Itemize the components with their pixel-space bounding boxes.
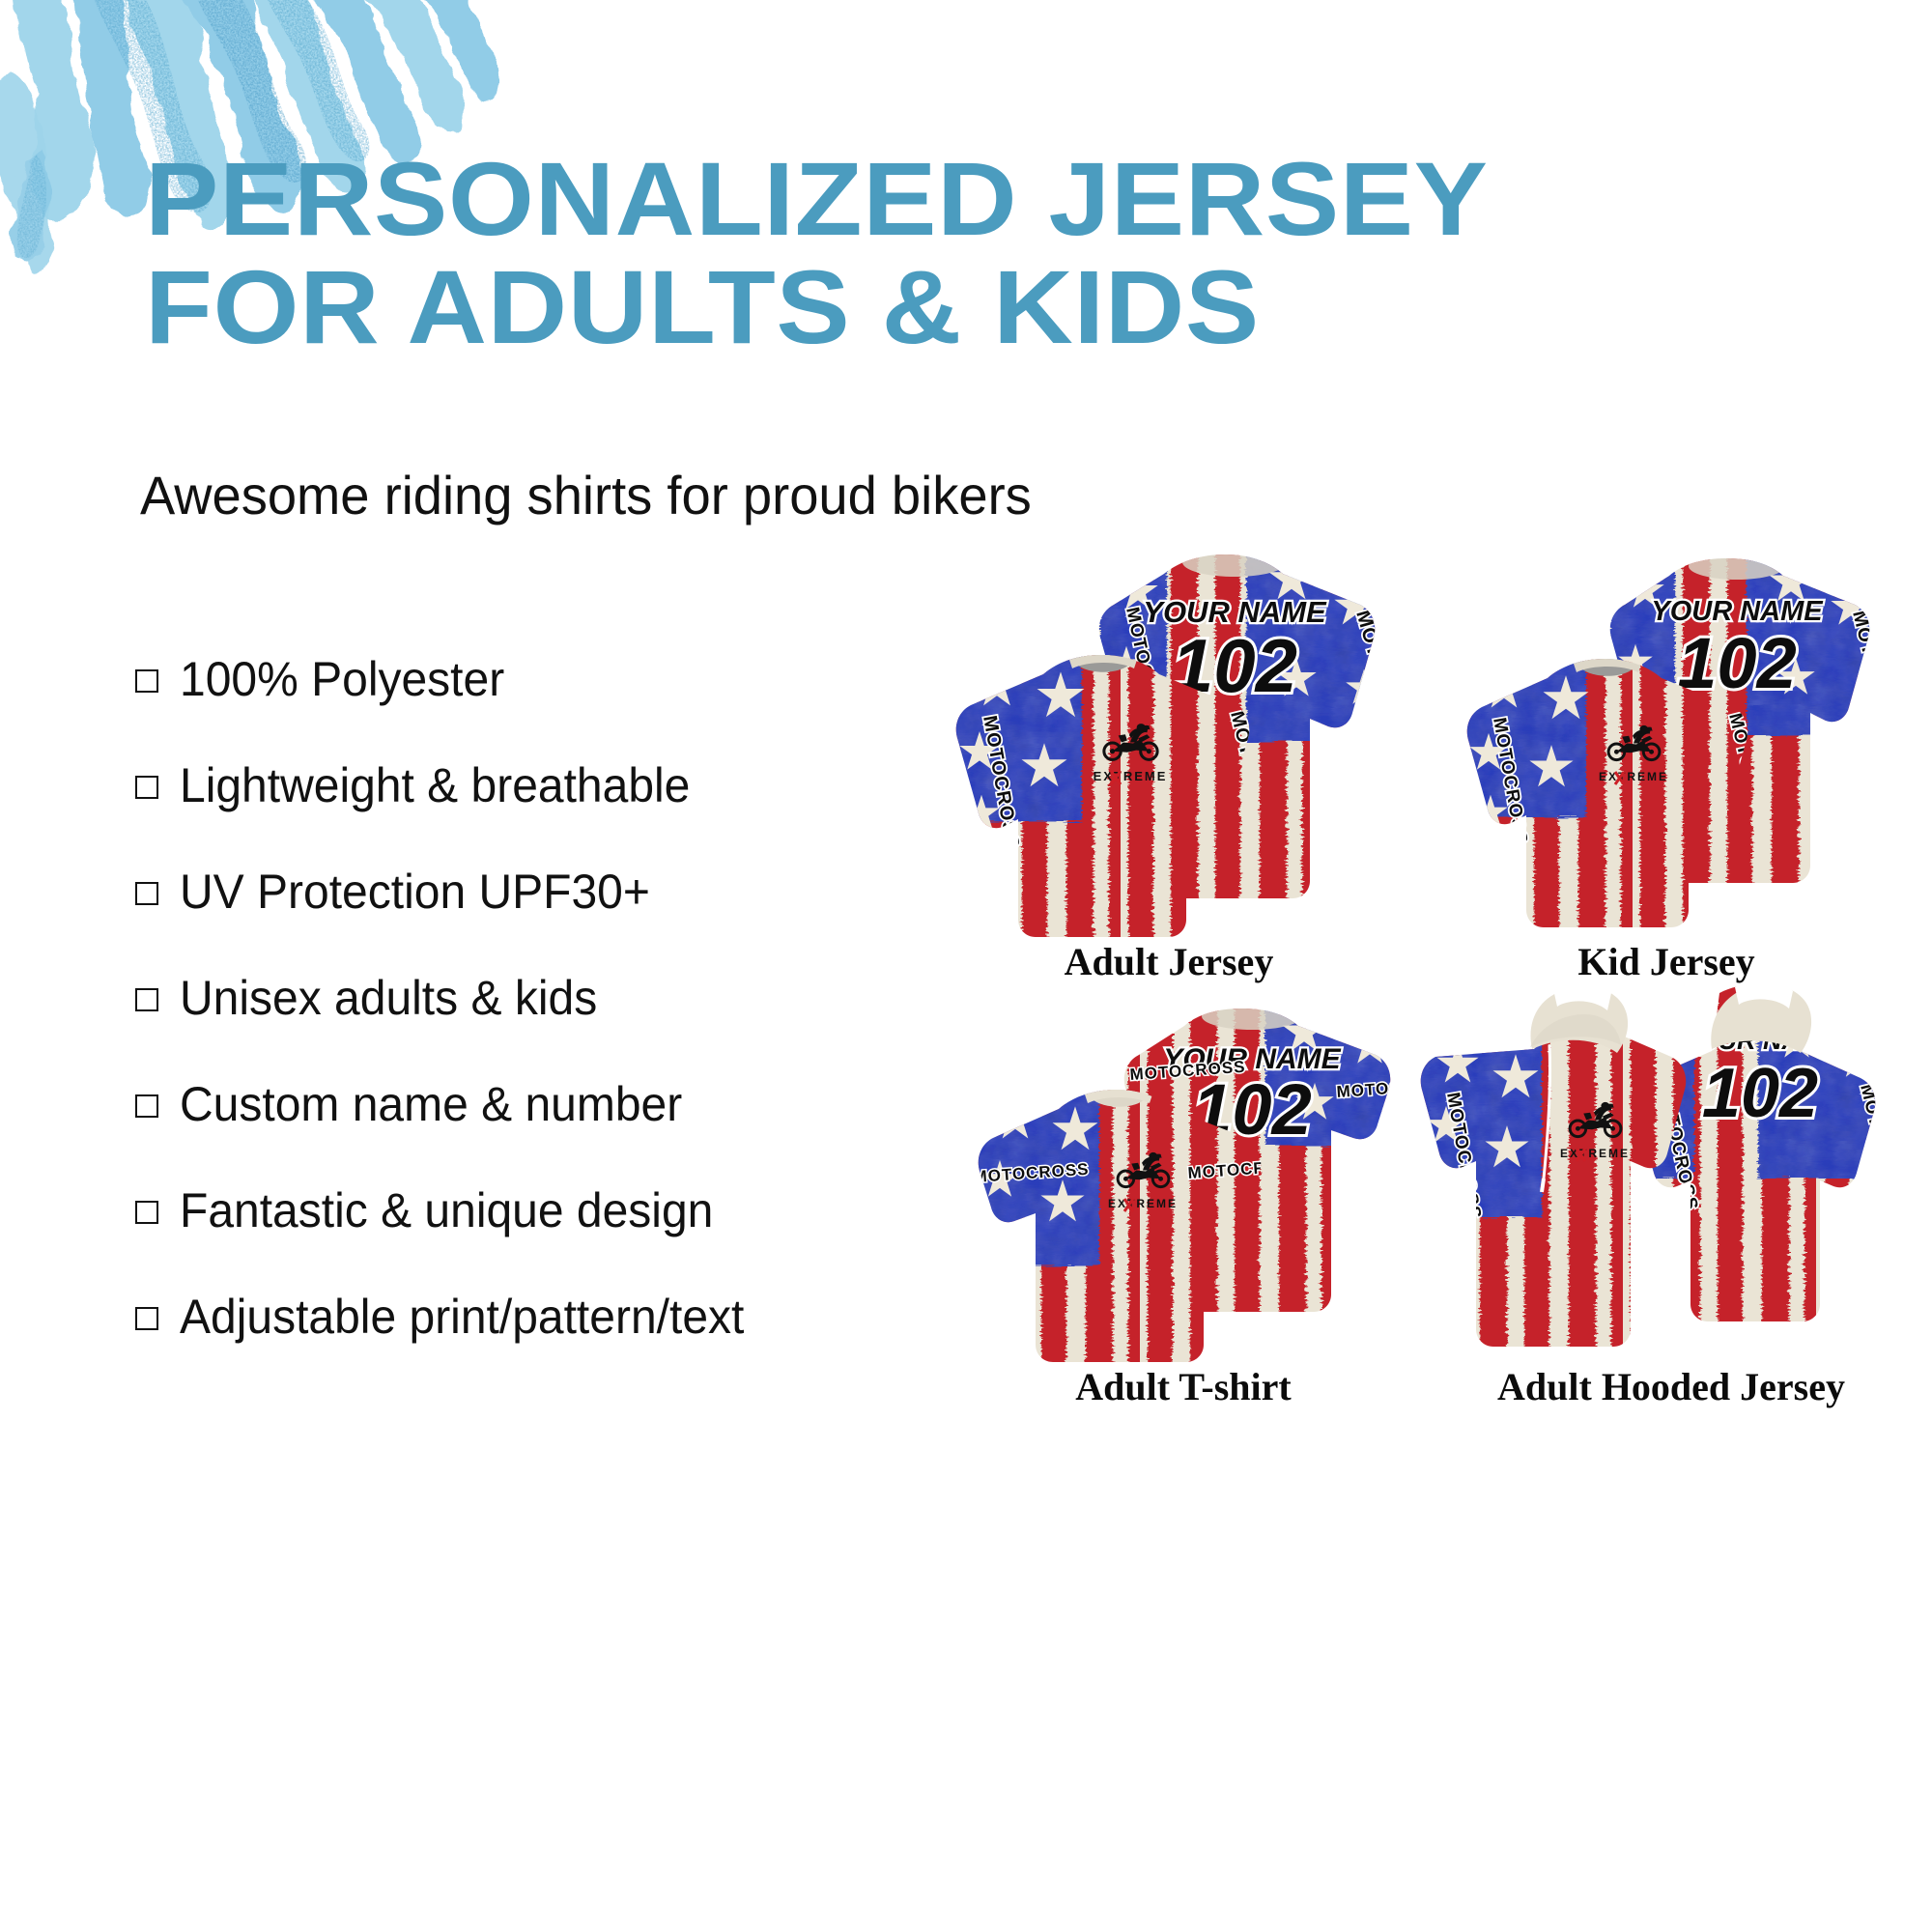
product-image-adult-hooded-jersey: YOUR NAME 102 MOTOCROSS MOTOCROSS bbox=[1430, 985, 1913, 1372]
checkbox-glyph-icon bbox=[135, 669, 158, 693]
feature-label: Lightweight & breathable bbox=[180, 757, 690, 813]
feature-item: UV Protection UPF30+ bbox=[135, 838, 927, 945]
print-number: 102 bbox=[1702, 1055, 1818, 1132]
print-sleeve: MOTOCROSS bbox=[1439, 535, 1553, 554]
product-label: Adult T-shirt bbox=[947, 1364, 1420, 1409]
checkbox-glyph-icon bbox=[135, 882, 158, 905]
chest-logo-text: EXTREME bbox=[1560, 1147, 1630, 1160]
headline-line-2: FOR ADULTS & KIDS bbox=[145, 253, 1496, 361]
feature-item: Lightweight & breathable bbox=[135, 732, 927, 838]
product-image-adult-tshirt: YOUR NAME 102 MOTOCROSS MOTOCROSS bbox=[947, 1005, 1420, 1372]
feature-item: Unisex adults & kids bbox=[135, 945, 927, 1051]
garment-back-view: YOUR NAME 102 MOTOCROSS MOTOCROSS bbox=[1633, 981, 1907, 1321]
checkbox-glyph-icon bbox=[135, 1307, 158, 1330]
subheading: Awesome riding shirts for proud bikers bbox=[140, 464, 1032, 526]
chest-logo-text: EXTREME bbox=[1108, 1197, 1178, 1210]
print-number: 102 bbox=[1677, 623, 1796, 703]
headline-line-1: PERSONALIZED JERSEY bbox=[145, 145, 1496, 253]
product-label: Adult Hooded Jersey bbox=[1430, 1364, 1913, 1409]
feature-item: Custom name & number bbox=[135, 1051, 927, 1157]
feature-label: Adjustable print/pattern/text bbox=[180, 1289, 744, 1345]
feature-label: UV Protection UPF30+ bbox=[180, 864, 650, 920]
feature-item: Adjustable print/pattern/text bbox=[135, 1264, 927, 1370]
chest-logo-text: EXTREME bbox=[1599, 770, 1668, 783]
feature-label: Unisex adults & kids bbox=[180, 970, 597, 1026]
product-gallery: YOUR NAME 102 MOTOCROSS MOTOCROSS bbox=[927, 541, 1922, 1690]
product-label: Adult Jersey bbox=[927, 939, 1410, 984]
product-card-adult-hooded-jersey[interactable]: YOUR NAME 102 MOTOCROSS MOTOCROSS bbox=[1430, 985, 1913, 1372]
product-image-adult-jersey: YOUR NAME 102 MOTOCROSS MOTOCROSS bbox=[927, 541, 1410, 947]
feature-item: 100% Polyester bbox=[135, 626, 927, 732]
product-image-kid-jersey: YOUR NAME 102 MOTOCROSS MOTOCROSS bbox=[1439, 551, 1893, 937]
product-card-adult-tshirt[interactable]: YOUR NAME 102 MOTOCROSS MOTOCROSS bbox=[947, 1005, 1420, 1372]
garment-front-view: EXTREME MOTOCROSS bbox=[1418, 983, 1686, 1347]
product-card-adult-jersey[interactable]: YOUR NAME 102 MOTOCROSS MOTOCROSS bbox=[927, 541, 1410, 947]
product-card-kid-jersey[interactable]: YOUR NAME 102 MOTOCROSS MOTOCROSS bbox=[1439, 551, 1893, 937]
feature-label: Custom name & number bbox=[180, 1076, 682, 1132]
checkbox-glyph-icon bbox=[135, 776, 158, 799]
checkbox-glyph-icon bbox=[135, 1201, 158, 1224]
feature-list: 100% Polyester Lightweight & breathable … bbox=[135, 626, 927, 1370]
feature-item: Fantastic & unique design bbox=[135, 1157, 927, 1264]
checkbox-glyph-icon bbox=[135, 1094, 158, 1118]
feature-label: 100% Polyester bbox=[180, 651, 504, 707]
chest-logo-text: EXTREME bbox=[1094, 769, 1168, 783]
feature-label: Fantastic & unique design bbox=[180, 1182, 713, 1238]
page-title: PERSONALIZED JERSEY FOR ADULTS & KIDS bbox=[145, 145, 1420, 361]
checkbox-glyph-icon bbox=[135, 988, 158, 1011]
product-label: Kid Jersey bbox=[1439, 939, 1893, 984]
